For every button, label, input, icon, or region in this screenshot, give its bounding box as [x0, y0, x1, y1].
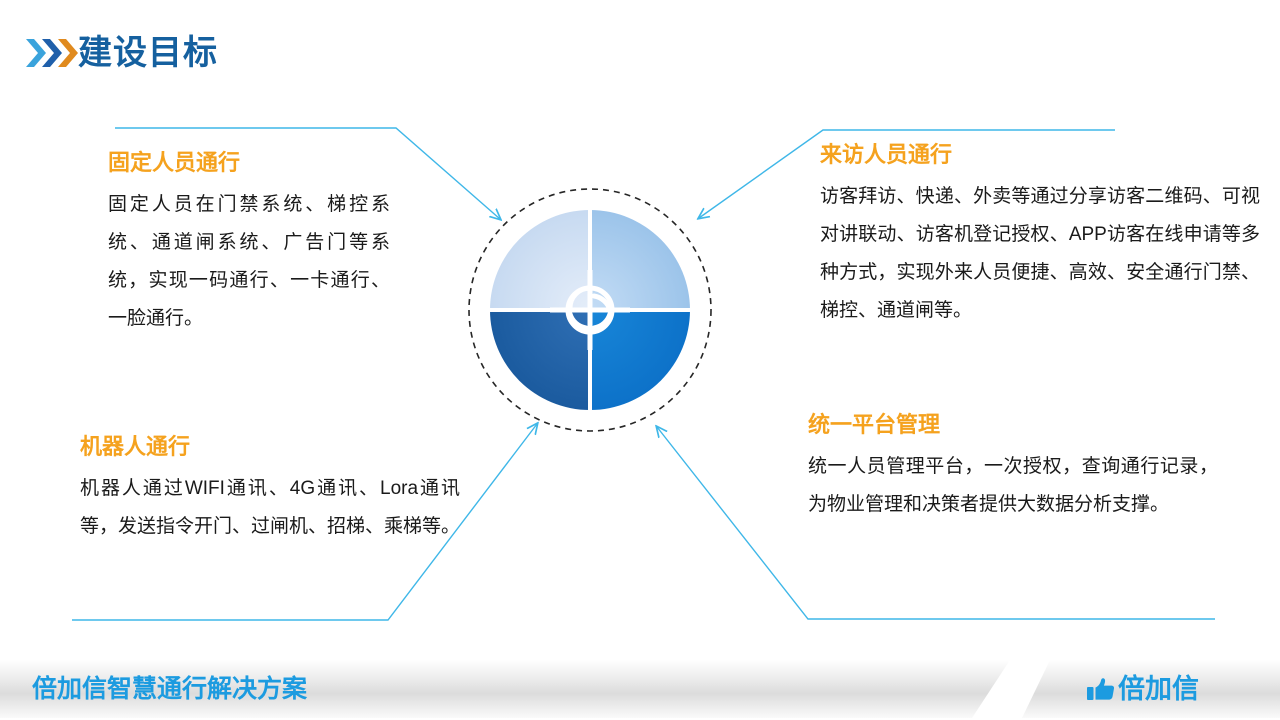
block-heading-platform: 统一平台管理 — [808, 410, 1218, 440]
footer-title: 倍加信智慧通行解决方案 — [32, 672, 307, 706]
slide-canvas: 建设目标 — [0, 0, 1280, 720]
center-circle-graphic — [465, 185, 715, 435]
block-body-fixed: 固定人员在门禁系统、梯控系统、通道闸系统、广告门等系统，实现一码通行、一卡通行、… — [108, 186, 390, 338]
chevron-arrows-icon — [24, 36, 80, 70]
info-block-fixed-personnel: 固定人员通行 固定人员在门禁系统、梯控系统、通道闸系统、广告门等系统，实现一码通… — [100, 148, 390, 338]
slide-header: 建设目标 — [0, 0, 1280, 100]
block-body-visitor: 访客拜访、快递、外卖等通过分享访客二维码、可视对讲联动、访客机登记授权、APP访… — [820, 178, 1260, 330]
slide-footer: 倍加信智慧通行解决方案 倍加信 — [0, 660, 1280, 720]
refresh-cycle-icon — [550, 270, 630, 350]
block-body-robot: 机器人通过WIFI通讯、4G通讯、Lora通讯等，发送指令开门、过闸机、招梯、乘… — [80, 470, 460, 546]
block-heading-robot: 机器人通行 — [80, 432, 460, 462]
brand-name: 倍加信 — [1118, 672, 1199, 706]
info-block-platform: 统一平台管理 统一人员管理平台，一次授权，查询通行记录，为物业管理和决策者提供大… — [808, 410, 1218, 524]
block-heading-fixed: 固定人员通行 — [108, 148, 390, 178]
thumbs-up-icon — [1086, 674, 1116, 704]
block-body-platform: 统一人员管理平台，一次授权，查询通行记录，为物业管理和决策者提供大数据分析支撑。 — [808, 448, 1218, 524]
info-block-robot: 机器人通行 机器人通过WIFI通讯、4G通讯、Lora通讯等，发送指令开门、过闸… — [80, 432, 460, 546]
info-block-visitor-personnel: 来访人员通行 访客拜访、快递、外卖等通过分享访客二维码、可视对讲联动、访客机登记… — [820, 140, 1260, 330]
brand-logo: 倍加信 — [1086, 670, 1199, 708]
page-title: 建设目标 — [78, 32, 218, 74]
block-heading-visitor: 来访人员通行 — [820, 140, 1260, 170]
